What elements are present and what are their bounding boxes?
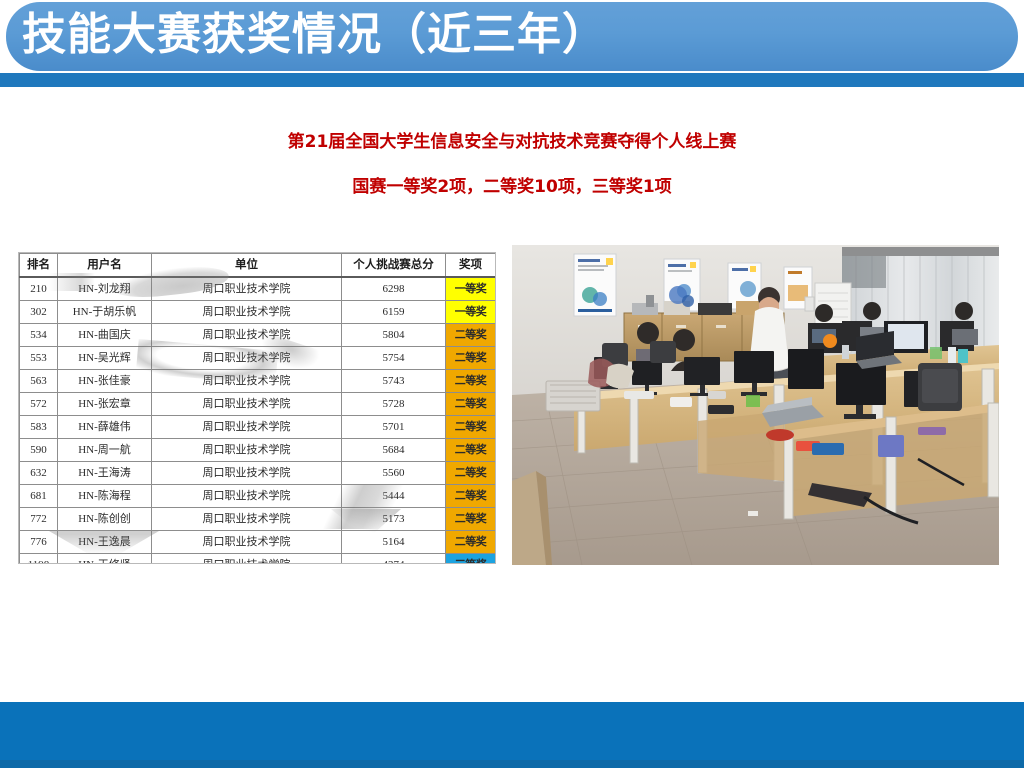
cell-score: 6159 xyxy=(342,301,446,324)
cell-score: 5804 xyxy=(342,324,446,347)
results-table-image: 排名 用户名 单位 个人挑战赛总分 奖项 210HN-刘龙翔周口职业技术学院62… xyxy=(18,252,496,564)
cell-org: 周口职业技术学院 xyxy=(152,277,342,301)
subtitle-line-1-plain: 第21届全国大学生信息安全与对抗技术竞赛 xyxy=(288,132,618,152)
cell-rank: 772 xyxy=(20,508,58,531)
cell-org: 周口职业技术学院 xyxy=(152,439,342,462)
cell-award: 一等奖 xyxy=(446,277,496,301)
cell-org: 周口职业技术学院 xyxy=(152,554,342,565)
cell-rank: 210 xyxy=(20,277,58,301)
cell-user: HN-刘龙翔 xyxy=(58,277,152,301)
cell-award: 二等奖 xyxy=(446,462,496,485)
cell-org: 周口职业技术学院 xyxy=(152,301,342,324)
header-underbar xyxy=(0,73,1024,87)
column-header-org: 单位 xyxy=(152,254,342,278)
table-row: 776HN-王逸晨周口职业技术学院5164二等奖 xyxy=(20,531,496,554)
table-row: 632HN-王海涛周口职业技术学院5560二等奖 xyxy=(20,462,496,485)
cell-score: 5684 xyxy=(342,439,446,462)
cell-org: 周口职业技术学院 xyxy=(152,370,342,393)
subtitle-line-1-bold: 夺得个人线上赛 xyxy=(617,132,736,152)
cell-org: 周口职业技术学院 xyxy=(152,531,342,554)
cell-award: 二等奖 xyxy=(446,324,496,347)
cell-award: 二等奖 xyxy=(446,508,496,531)
cell-award: 二等奖 xyxy=(446,393,496,416)
cell-user: HN-王逸晨 xyxy=(58,531,152,554)
cell-user: HN-张宏章 xyxy=(58,393,152,416)
table-header-row: 排名 用户名 单位 个人挑战赛总分 奖项 xyxy=(20,254,496,278)
cell-org: 周口职业技术学院 xyxy=(152,347,342,370)
cell-rank: 553 xyxy=(20,347,58,370)
cell-user: HN-王海涛 xyxy=(58,462,152,485)
column-header-award: 奖项 xyxy=(446,254,496,278)
cell-rank: 583 xyxy=(20,416,58,439)
computer-lab-photo xyxy=(512,245,999,565)
subtitle-line-2: 国赛一等奖2项，二等奖10项，三等奖1项 xyxy=(0,171,1024,203)
cell-score: 5560 xyxy=(342,462,446,485)
cell-user: HN-王修贤 xyxy=(58,554,152,565)
cell-rank: 302 xyxy=(20,301,58,324)
page-title: 技能大赛获奖情况（近三年） xyxy=(22,4,607,66)
table-row: 553HN-吴光辉周口职业技术学院5754二等奖 xyxy=(20,347,496,370)
column-header-rank: 排名 xyxy=(20,254,58,278)
table-row: 681HN-陈海程周口职业技术学院5444二等奖 xyxy=(20,485,496,508)
cell-org: 周口职业技术学院 xyxy=(152,462,342,485)
table-row: 563HN-张佳豪周口职业技术学院5743二等奖 xyxy=(20,370,496,393)
cell-award: 三等奖 xyxy=(446,554,496,565)
table-row: 772HN-陈创创周口职业技术学院5173二等奖 xyxy=(20,508,496,531)
subtitle-block: 第21届全国大学生信息安全与对抗技术竞赛夺得个人线上赛 国赛一等奖2项，二等奖1… xyxy=(0,126,1024,203)
cell-score: 5743 xyxy=(342,370,446,393)
cell-user: HN-薛雄伟 xyxy=(58,416,152,439)
cell-score: 5444 xyxy=(342,485,446,508)
cell-award: 二等奖 xyxy=(446,347,496,370)
cell-award: 二等奖 xyxy=(446,485,496,508)
cell-user: HN-于胡乐帆 xyxy=(58,301,152,324)
cell-award: 二等奖 xyxy=(446,370,496,393)
cell-user: HN-周一航 xyxy=(58,439,152,462)
cell-rank: 776 xyxy=(20,531,58,554)
subtitle-line-1: 第21届全国大学生信息安全与对抗技术竞赛夺得个人线上赛 xyxy=(0,126,1024,158)
table-row: 1198HN-王修贤周口职业技术学院4374三等奖 xyxy=(20,554,496,565)
cell-user: HN-吴光辉 xyxy=(58,347,152,370)
table-row: 534HN-曲国庆周口职业技术学院5804二等奖 xyxy=(20,324,496,347)
cell-org: 周口职业技术学院 xyxy=(152,508,342,531)
cell-score: 4374 xyxy=(342,554,446,565)
cell-score: 5701 xyxy=(342,416,446,439)
table-row: 590HN-周一航周口职业技术学院5684二等奖 xyxy=(20,439,496,462)
photo-illustration xyxy=(512,245,999,565)
column-header-user: 用户名 xyxy=(58,254,152,278)
footer-bar xyxy=(0,702,1024,760)
cell-org: 周口职业技术学院 xyxy=(152,485,342,508)
table-row: 302HN-于胡乐帆周口职业技术学院6159一等奖 xyxy=(20,301,496,324)
cell-user: HN-陈创创 xyxy=(58,508,152,531)
cell-score: 5173 xyxy=(342,508,446,531)
cell-rank: 563 xyxy=(20,370,58,393)
slide-root: 技能大赛获奖情况（近三年） 第21届全国大学生信息安全与对抗技术竞赛夺得个人线上… xyxy=(0,0,1024,768)
table-row: 572HN-张宏章周口职业技术学院5728二等奖 xyxy=(20,393,496,416)
cell-user: HN-陈海程 xyxy=(58,485,152,508)
cell-score: 5754 xyxy=(342,347,446,370)
cell-user: HN-曲国庆 xyxy=(58,324,152,347)
cell-award: 二等奖 xyxy=(446,439,496,462)
cell-rank: 534 xyxy=(20,324,58,347)
table-row: 583HN-薛雄伟周口职业技术学院5701二等奖 xyxy=(20,416,496,439)
cell-org: 周口职业技术学院 xyxy=(152,416,342,439)
results-table-body: 210HN-刘龙翔周口职业技术学院6298一等奖302HN-于胡乐帆周口职业技术… xyxy=(20,277,496,564)
cell-rank: 632 xyxy=(20,462,58,485)
cell-score: 5164 xyxy=(342,531,446,554)
cell-rank: 681 xyxy=(20,485,58,508)
cell-user: HN-张佳豪 xyxy=(58,370,152,393)
cell-score: 5728 xyxy=(342,393,446,416)
cell-rank: 590 xyxy=(20,439,58,462)
footer-bar-edge xyxy=(0,760,1024,768)
cell-rank: 572 xyxy=(20,393,58,416)
table-row: 210HN-刘龙翔周口职业技术学院6298一等奖 xyxy=(20,277,496,301)
cell-rank: 1198 xyxy=(20,554,58,565)
cell-org: 周口职业技术学院 xyxy=(152,324,342,347)
cell-award: 一等奖 xyxy=(446,301,496,324)
cell-org: 周口职业技术学院 xyxy=(152,393,342,416)
cell-award: 二等奖 xyxy=(446,531,496,554)
column-header-score: 个人挑战赛总分 xyxy=(342,254,446,278)
results-table: 排名 用户名 单位 个人挑战赛总分 奖项 210HN-刘龙翔周口职业技术学院62… xyxy=(19,253,496,564)
cell-score: 6298 xyxy=(342,277,446,301)
cell-award: 二等奖 xyxy=(446,416,496,439)
